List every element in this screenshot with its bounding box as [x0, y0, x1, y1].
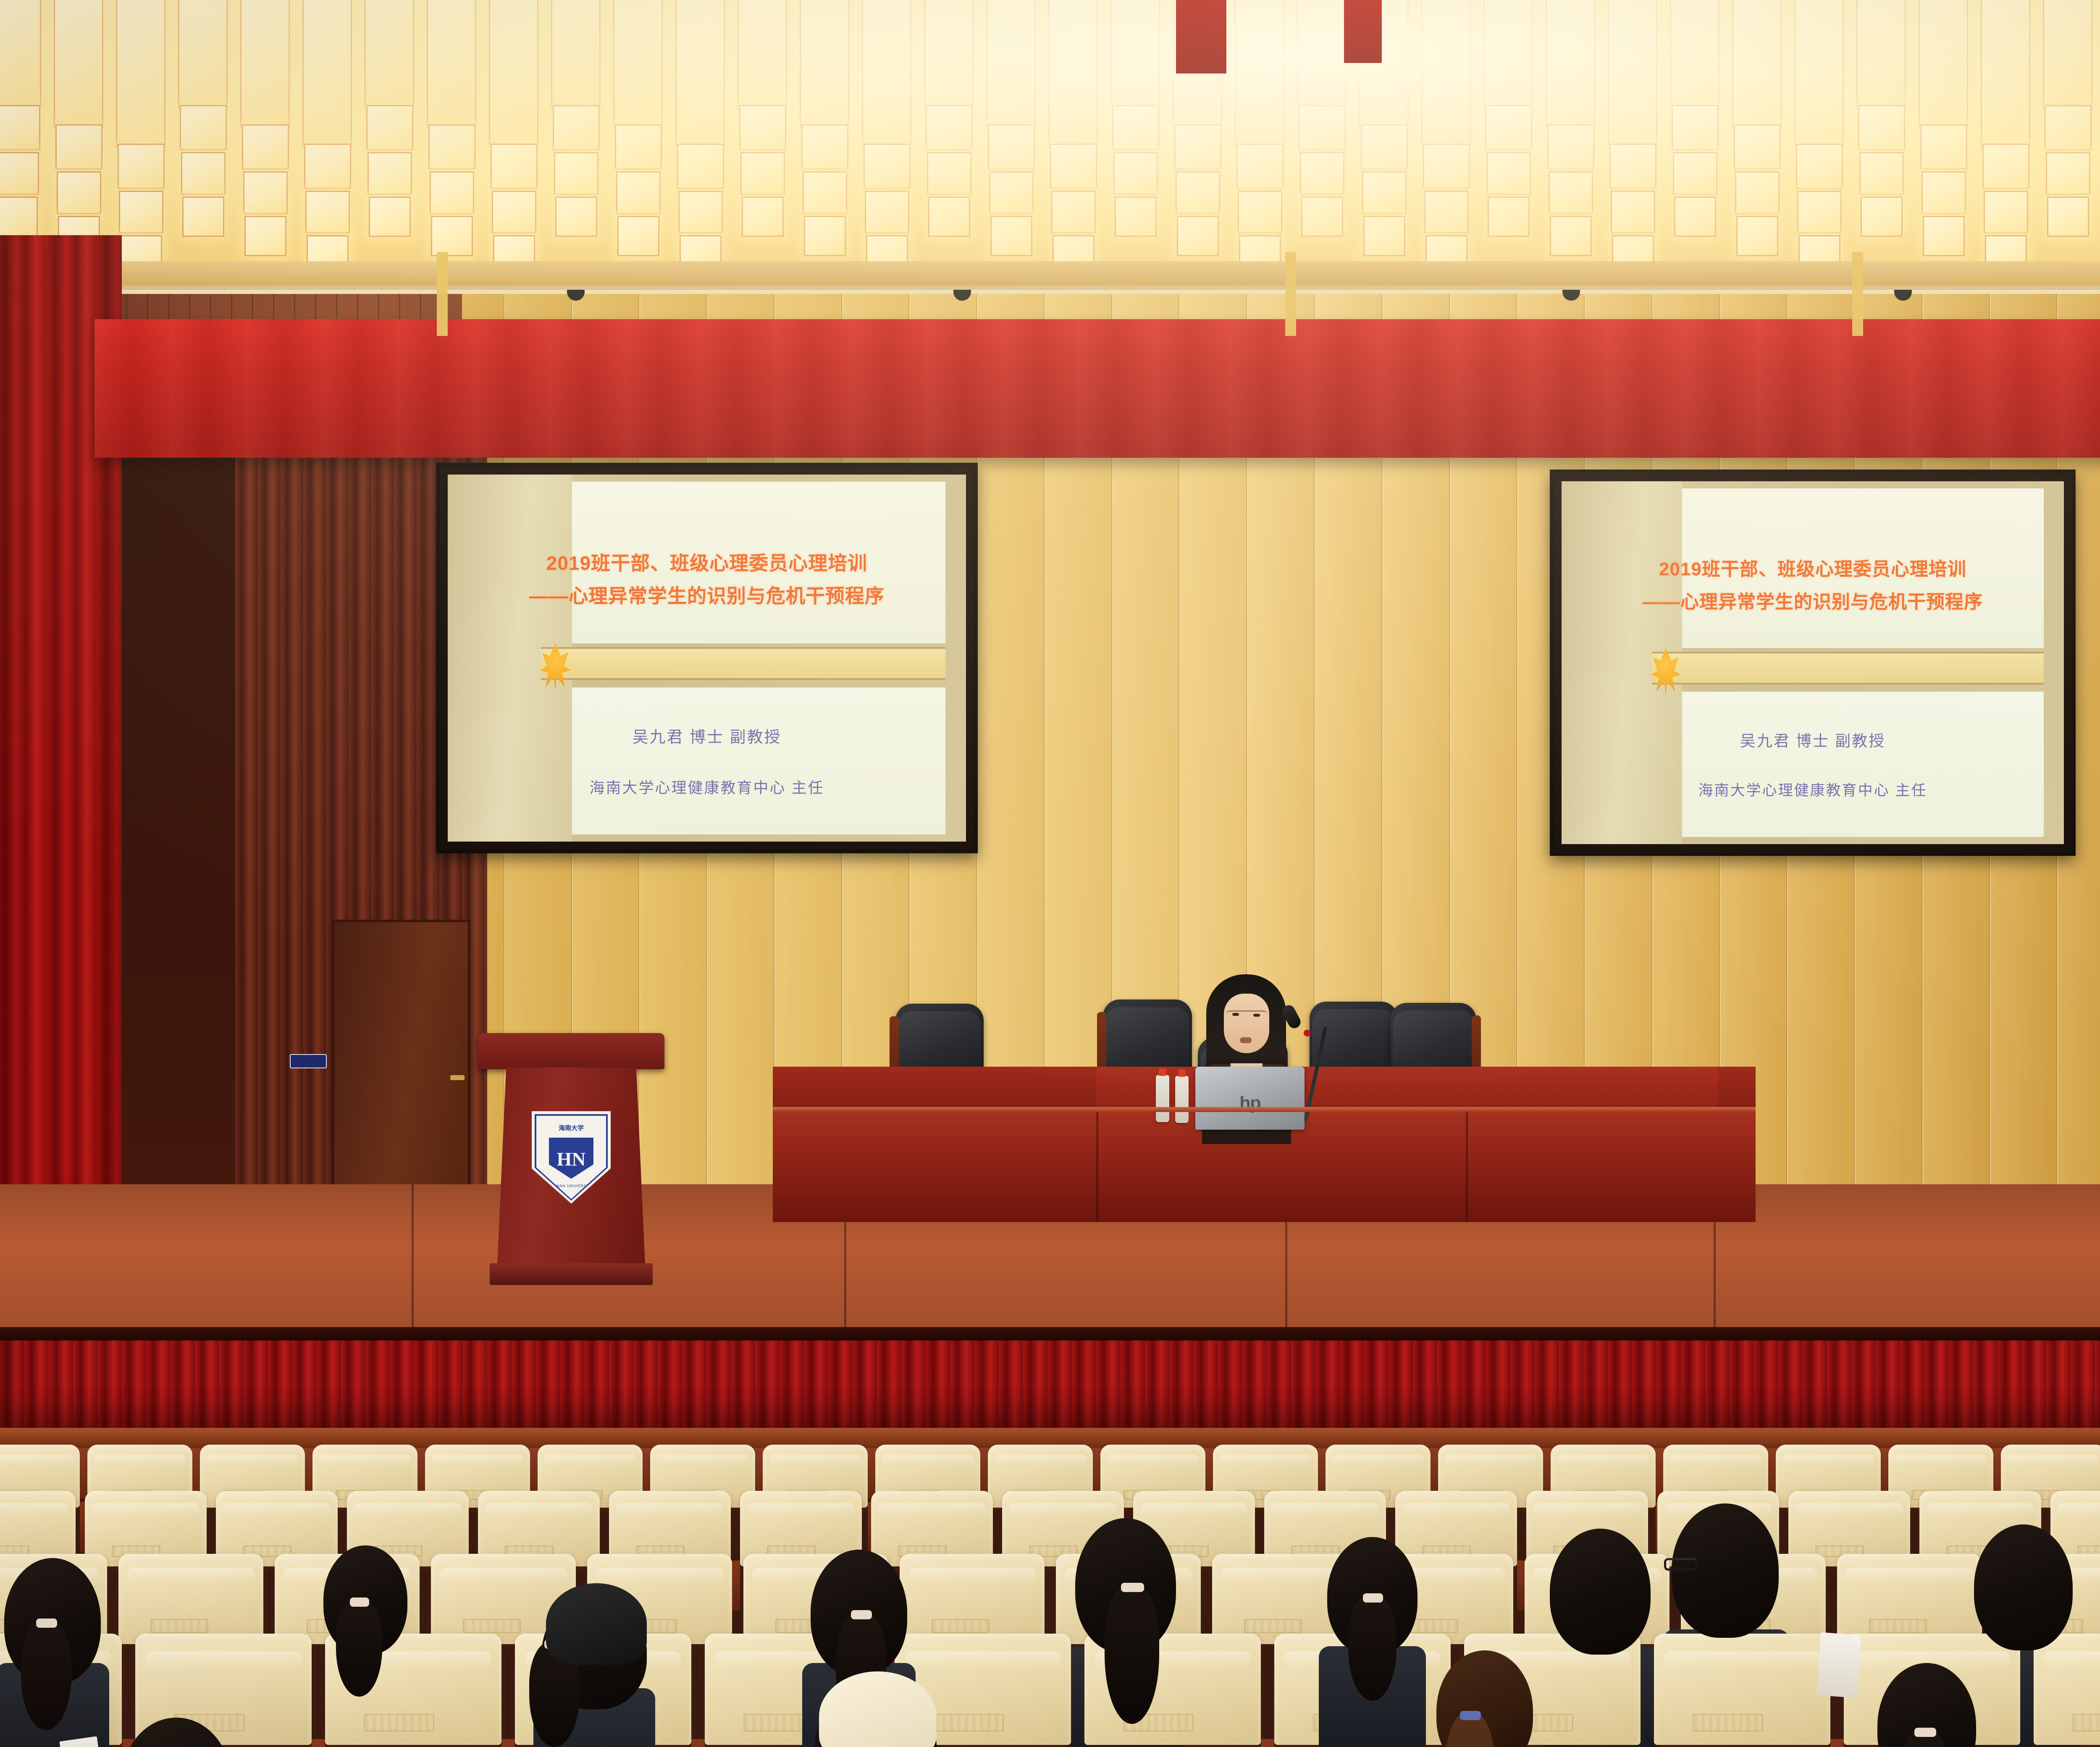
ceiling-lamp-cube — [803, 171, 847, 214]
speaker-glasses-icon — [1226, 1010, 1268, 1020]
speaker-eye-left — [1232, 1013, 1239, 1016]
stage-red-banner — [94, 319, 2100, 458]
ceiling-lamp-cube — [1485, 105, 1532, 150]
ceiling-lamp-cube — [369, 197, 411, 237]
ceiling-lamp-cube — [927, 152, 971, 195]
ceiling-lamp-cube — [1363, 216, 1405, 256]
ceiling-lamp-strip — [1110, 0, 1160, 109]
ceiling-lamp-cube — [1984, 191, 2028, 233]
ceiling-lamp-cube — [1735, 171, 1780, 214]
ceiling-lamp-cube — [615, 124, 662, 170]
audience-person-head — [1974, 1524, 2073, 1650]
ceiling-lamp-strip — [1235, 0, 1284, 148]
ceiling-lamp-cube — [1921, 171, 1966, 214]
ceiling-lamp-cube — [1361, 124, 1408, 170]
seat-cover-motif — [2072, 1714, 2100, 1731]
ceiling-lamp-cube — [304, 144, 351, 189]
shield-initials: HN — [549, 1148, 593, 1170]
audience-person-hair-tie — [1363, 1593, 1383, 1603]
lectern-podium[interactable]: 海南大学 HN HAINAN UNIVERSITY — [487, 1033, 655, 1293]
ceiling-light-array — [0, 0, 2100, 286]
seat-cover-motif — [1869, 1619, 1927, 1633]
ceiling-lamp-strip — [1421, 0, 1471, 148]
seat-cover-motif — [364, 1714, 434, 1731]
seat-cover-motif — [933, 1714, 1004, 1731]
slide-affiliation-line: 海南大学心理健康教育中心 主任 — [448, 776, 966, 797]
ceiling-lamp-strip — [1981, 0, 2030, 148]
ceiling-lamp-strip — [924, 0, 974, 109]
ceiling-lamp-cube — [1488, 197, 1530, 237]
slide-title-line-1: 2019班干部、班级心理委员心理培训 — [448, 548, 966, 576]
ceiling-lamp-strip — [54, 0, 103, 129]
seat-row-gap — [731, 1561, 740, 1611]
left-door-handle[interactable] — [450, 1075, 465, 1080]
ceiling-lamp-strip — [0, 0, 41, 109]
ceiling-lamp-cube — [428, 124, 475, 170]
seat-cover-motif — [932, 1619, 990, 1633]
ceiling-lamp-cube — [1858, 105, 1905, 150]
slide-title-line-1-right: 2019班干部、班级心理委员心理培训 — [1562, 554, 2064, 581]
ceiling-lamp-cube — [1424, 191, 1469, 233]
ceiling-lamp-cube — [1051, 191, 1096, 233]
audience-person-ponytail — [21, 1621, 71, 1730]
ceiling-lamp-cube — [1423, 144, 1470, 189]
ceiling-lamp-cube — [2046, 152, 2090, 195]
audience-person-hair-tie — [1914, 1728, 1937, 1737]
audience-person-head — [1550, 1529, 1651, 1655]
slide-presenter-line-right: 吴九君 博士 副教授 — [1562, 728, 2064, 751]
slide-left: 2019班干部、班级心理委员心理培训 ——心理异常学生的识别与危机干预程序 吴九… — [448, 475, 966, 842]
seat-row-gap — [312, 1739, 325, 1747]
ceiling-lamp-strip — [178, 0, 228, 109]
ceiling-lamp-cube — [1674, 197, 1716, 237]
slide-title-line-2: ——心理异常学生的识别与危机干预程序 — [448, 581, 966, 609]
water-bottle-1[interactable] — [1156, 1075, 1169, 1122]
audience-person-cap — [546, 1583, 647, 1665]
ceiling-lamp-cube — [1301, 197, 1343, 237]
desk-seam-2 — [1466, 1109, 1468, 1222]
slide-divider-band-right — [1652, 652, 2044, 685]
desk-seam-1 — [1096, 1109, 1098, 1222]
ceiling-red-accent-right — [1344, 0, 1382, 63]
microphone-indicator-light — [1304, 1030, 1310, 1036]
ceiling-lamp-strip — [427, 0, 476, 129]
ceiling-lamp-strip — [800, 0, 849, 129]
audience-person-hair-tie — [1460, 1711, 1481, 1720]
podium-base — [490, 1263, 653, 1285]
ceiling-lamp-cube — [990, 216, 1032, 256]
ceiling-lamp-strip — [986, 0, 1036, 129]
ceiling-lamp-cube — [1549, 171, 1593, 214]
ceiling-lamp-cube — [1050, 144, 1097, 189]
slide-title-line-2-right: ——心理异常学生的识别与危机干预程序 — [1562, 587, 2064, 614]
ceiling-lamp-cube — [1923, 216, 1965, 256]
ceiling-lamp-strip — [1048, 0, 1098, 148]
ceiling-lamp-cube — [1734, 124, 1781, 170]
ceiling-lamp-cube — [1236, 144, 1284, 189]
ceiling-lamp-cube — [367, 152, 412, 195]
ceiling-lamp-cube — [2045, 105, 2092, 150]
water-bottle-2[interactable] — [1175, 1076, 1189, 1123]
seat-cover-motif — [463, 1619, 521, 1633]
audience-seat[interactable] — [2034, 1634, 2100, 1745]
ceiling-lamp-cube — [1796, 144, 1843, 189]
projection-surface-left: 2019班干部、班级心理委员心理培训 ——心理异常学生的识别与危机干预程序 吴九… — [448, 475, 966, 842]
ceiling-lamp-cube — [989, 171, 1034, 214]
ceiling-lamp-strip — [1732, 0, 1782, 129]
ceiling-lamp-cube — [677, 144, 724, 189]
ceiling-lamp-cube — [181, 152, 226, 195]
left-door-sign — [290, 1054, 327, 1068]
ceiling-lamp-cube — [555, 197, 597, 237]
ceiling-lamp-cube — [0, 105, 40, 150]
ceiling-lamp-strip — [1546, 0, 1595, 129]
seat-cover-motif — [1693, 1714, 1763, 1731]
seat-row-gap — [1830, 1739, 1844, 1747]
ceiling-lamp-cube — [1673, 152, 1717, 195]
seat-cover-motif — [1244, 1619, 1302, 1633]
speaker-eye-right — [1253, 1014, 1260, 1017]
ceiling-lamp-cube — [1736, 216, 1778, 256]
audience-person-hair-tie — [36, 1618, 57, 1628]
audience-person-hair-tie — [851, 1610, 872, 1619]
ceiling-lamp-cube — [431, 216, 473, 256]
ceiling-lamp-cube — [430, 171, 474, 214]
ceiling-lamp-cube — [1115, 197, 1157, 237]
audience-handout-2[interactable] — [1816, 1632, 1861, 1698]
audience-seat[interactable] — [118, 1554, 263, 1644]
ceiling-lamp-cube — [1112, 105, 1159, 150]
ceiling-lamp-cube — [2047, 197, 2089, 237]
slide-body-panel-right — [1682, 692, 2044, 837]
ceiling-lamp-strip — [862, 0, 911, 148]
ceiling-lamp-cube — [739, 105, 786, 150]
ceiling-lamp-cube — [1176, 171, 1220, 214]
slide-presenter-line: 吴九君 博士 副教授 — [448, 724, 966, 747]
banner-tie-left — [437, 252, 448, 336]
shield-chinese-name: 海南大学 — [536, 1123, 606, 1132]
ceiling-lamp-cube — [0, 152, 39, 195]
ceiling-lamp-cube — [740, 152, 785, 195]
ceiling-lamp-cube — [305, 191, 350, 233]
ceiling-lamp-cube — [1859, 152, 1904, 195]
ceiling-lamp-strip — [1483, 0, 1533, 109]
ceiling-lamp-strip — [1919, 0, 1968, 129]
ceiling-red-accent-left — [1176, 0, 1226, 73]
auditorium-scene: 2019班干部、班级心理委员心理培训 ——心理异常学生的识别与危机干预程序 吴九… — [0, 0, 2100, 1747]
ceiling-lamp-strip — [613, 0, 663, 129]
ceiling-lamp-cube — [553, 105, 600, 150]
ceiling-lamp-cube — [491, 144, 538, 189]
slide-body-panel-left — [572, 687, 945, 834]
ceiling-lamp-cube — [55, 124, 102, 170]
ceiling-lamp-strip — [1297, 0, 1347, 109]
slide-divider-band-left — [541, 647, 945, 680]
ceiling-lamp-cube — [180, 105, 227, 150]
slide-affiliation-line-right: 海南大学心理健康教育中心 主任 — [1562, 779, 2064, 800]
projection-screen-right: 2019班干部、班级心理委员心理培训 ——心理异常学生的识别与危机干预程序 吴九… — [1550, 470, 2076, 856]
ceiling-lamp-strip — [675, 0, 725, 148]
ceiling-lamp-cube — [988, 124, 1035, 170]
audience-person-ponytail — [336, 1600, 382, 1697]
stage-front-lip — [0, 1327, 2100, 1341]
ceiling-soffit — [0, 261, 2100, 286]
speaker-face — [1224, 994, 1269, 1053]
ceiling-lamp-cube — [366, 105, 413, 150]
seat-row-gap — [691, 1739, 705, 1747]
ceiling-lamp-cube — [1982, 144, 2029, 189]
ceiling-lamp-strip — [1608, 0, 1657, 148]
ceiling-lamp-cube — [865, 191, 909, 233]
ceiling-lamp-strip — [365, 0, 414, 109]
shield-crest: HN — [549, 1138, 593, 1179]
ceiling-lamp-cube — [1300, 152, 1344, 195]
ceiling-lamp-cube — [1362, 171, 1407, 214]
banner-tie-center — [1285, 252, 1296, 336]
ceiling-lamp-cube — [1672, 105, 1719, 150]
ceiling-lamp-cube — [492, 191, 536, 233]
ceiling-lamp-cube — [57, 171, 101, 214]
audience-seat[interactable] — [1837, 1554, 1982, 1644]
audience-area — [0, 1428, 2100, 1747]
slide-right: 2019班干部、班级心理委员心理培训 ——心理异常学生的识别与危机干预程序 吴九… — [1562, 481, 2064, 844]
audience-person-hair-tie — [350, 1597, 369, 1607]
ceiling-lamp-cube — [1547, 124, 1594, 170]
stage-floor-seam-1 — [412, 1184, 414, 1335]
ceiling-lamp-cube — [1920, 124, 1967, 170]
ceiling-lamp-cube — [928, 197, 970, 237]
ceiling-lamp-cube — [1174, 124, 1221, 170]
audience-seat[interactable] — [900, 1554, 1045, 1644]
ceiling-lamp-strip — [738, 0, 787, 109]
ceiling-lamp-cube — [1550, 216, 1592, 256]
ceiling-lamp-cube — [1861, 197, 1903, 237]
projection-surface-right: 2019班干部、班级心理委员心理培训 ——心理异常学生的识别与危机干预程序 吴九… — [1562, 481, 2064, 844]
ceiling-lamp-cube — [678, 191, 723, 233]
ceiling-lamp-cube — [617, 216, 659, 256]
ceiling-lamp-cube — [926, 105, 973, 150]
ceiling-lamp-cube — [244, 216, 286, 256]
conference-desk-top-edge — [773, 1107, 1756, 1112]
banner-tie-right — [1852, 252, 1863, 336]
left-stage-door[interactable] — [332, 920, 470, 1214]
ceiling-lamp-strip — [116, 0, 165, 148]
ceiling-lamp-cube — [616, 171, 661, 214]
ceiling-lamp-cube — [801, 124, 848, 170]
ceiling-lamp-cube — [1113, 152, 1158, 195]
ceiling-lamp-cube — [1797, 191, 1842, 233]
ceiling-lamp-cube — [1238, 191, 1282, 233]
ceiling-lamp-cube — [1177, 216, 1219, 256]
ceiling-lamp-strip — [1856, 0, 1906, 109]
ceiling-lamp-cube — [742, 197, 784, 237]
seat-row-gap — [501, 1739, 515, 1747]
ceiling-lamp-strip — [1670, 0, 1719, 109]
ceiling-lamp-cube — [243, 171, 288, 214]
audience-person-head — [1672, 1503, 1779, 1638]
hp-laptop[interactable]: hp — [1195, 1067, 1305, 1130]
ceiling-lamp-cube — [1486, 152, 1531, 195]
podium-top-surface — [478, 1033, 664, 1069]
ceiling-lamp-cube — [864, 144, 911, 189]
ceiling-lamp-cube — [0, 197, 38, 237]
ceiling-lamp-cube — [1609, 144, 1656, 189]
ceiling-lamp-cube — [1299, 105, 1346, 150]
ceiling-lamp-strip — [302, 0, 352, 148]
ceiling-lamp-strip — [2043, 0, 2092, 109]
ceiling-lamp-cube — [182, 197, 224, 237]
audience-person-ponytail — [1105, 1585, 1159, 1724]
speaker-mouth — [1240, 1037, 1252, 1043]
ceiling-lamp-cube — [118, 144, 165, 189]
ceiling-lamp-cube — [804, 216, 846, 256]
ceiling-lamp-cube — [242, 124, 289, 170]
ceiling-lamp-cube — [554, 152, 598, 195]
ceiling-lamp-strip — [551, 0, 601, 109]
seat-cover-motif — [150, 1619, 208, 1633]
ceiling-lamp-strip — [240, 0, 290, 129]
projection-screen-left: 2019班干部、班级心理委员心理培训 ——心理异常学生的识别与危机干预程序 吴九… — [436, 463, 978, 853]
ceiling-lamp-strip — [489, 0, 538, 148]
ceiling-lamp-strip — [1794, 0, 1844, 148]
audience-person-glasses-icon — [1664, 1558, 1698, 1571]
audience-seat[interactable] — [1654, 1634, 1830, 1745]
audience-person-ponytail — [1348, 1596, 1396, 1701]
ceiling-lamp-cube — [1611, 191, 1655, 233]
ceiling-lamp-cube — [119, 191, 163, 233]
seat-row-gap — [1261, 1739, 1274, 1747]
audience-person-hair-tie — [1121, 1583, 1144, 1592]
